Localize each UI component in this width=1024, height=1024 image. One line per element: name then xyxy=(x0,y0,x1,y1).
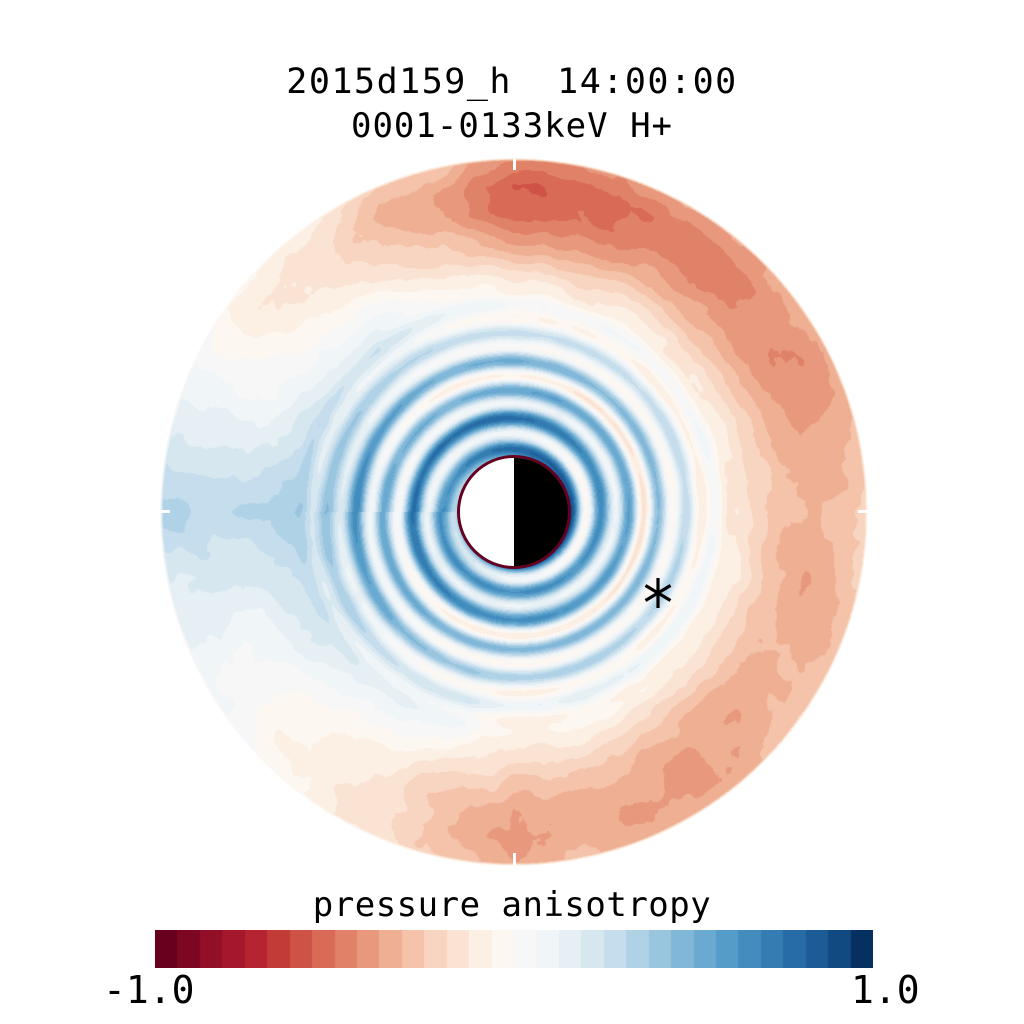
axis-tick-bottom xyxy=(513,853,516,870)
title-line-species: 0001-0133keV H+ xyxy=(0,104,1024,148)
title-line-timestamp: 2015d159_h 14:00:00 xyxy=(0,60,1024,104)
earth-dayside xyxy=(460,458,514,566)
colorbar-gradient xyxy=(155,930,873,968)
colorbar-title: pressure anisotropy xyxy=(0,885,1024,925)
earth-nightside xyxy=(514,458,568,566)
axis-tick-left xyxy=(154,510,170,513)
polar-plot-area xyxy=(160,158,868,866)
asterisk-marker xyxy=(640,575,676,611)
axis-tick-right xyxy=(858,510,874,513)
colorbar-min-label: -1.0 xyxy=(103,968,195,1012)
colorbar-title-text: pressure anisotropy xyxy=(313,885,711,925)
earth-disk xyxy=(460,458,568,566)
colorbar xyxy=(155,930,873,968)
axis-tick-top xyxy=(513,153,516,170)
colorbar-max-label: 1.0 xyxy=(851,968,920,1012)
figure-title: 2015d159_h 14:00:00 0001-0133keV H+ xyxy=(0,60,1024,148)
figure-root: 2015d159_h 14:00:00 0001-0133keV H+ pres… xyxy=(0,0,1024,1024)
